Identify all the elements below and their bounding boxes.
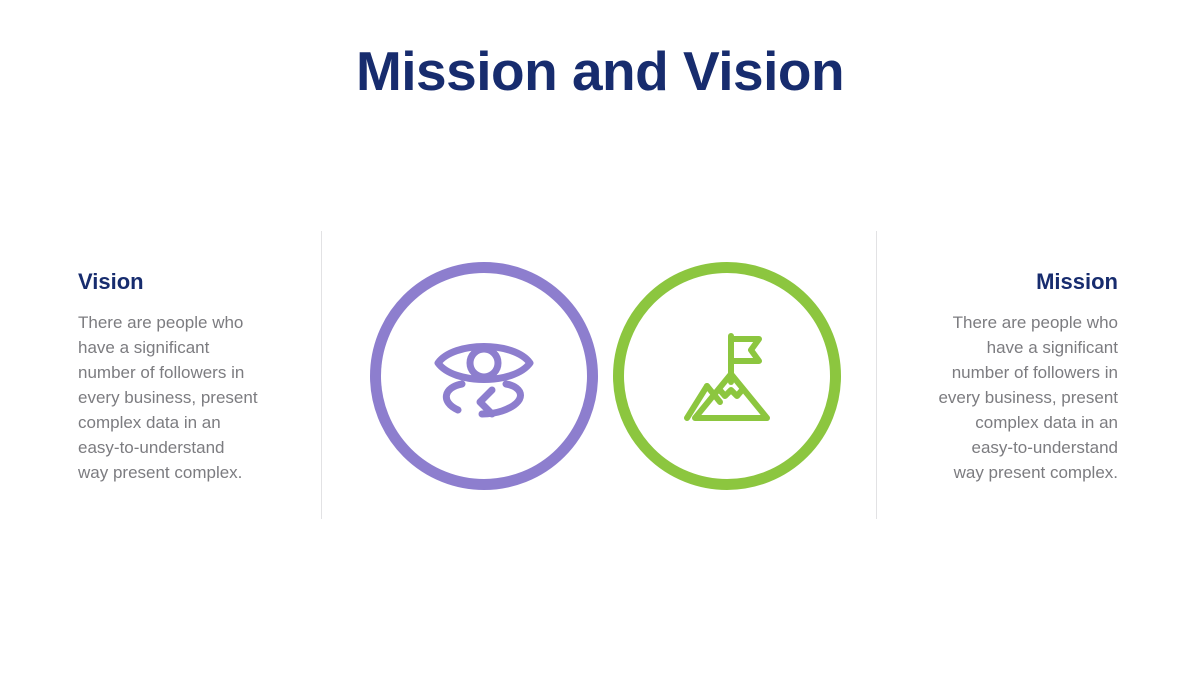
page-title: Mission and Vision [0, 44, 1200, 99]
vision-body-text: There are people whohave a significantnu… [78, 310, 294, 485]
vision-heading: Vision [78, 270, 294, 294]
mission-body-text: There are people whohave a significantnu… [902, 310, 1118, 485]
divider-left [321, 231, 322, 519]
mission-icon-circle [613, 262, 841, 490]
vision-icon-circle [370, 262, 598, 490]
vision-text-column: Vision There are people whohave a signif… [78, 270, 294, 485]
divider-right [876, 231, 877, 519]
mission-text-column: Mission There are people whohave a signi… [902, 270, 1118, 485]
mission-heading: Mission [902, 270, 1118, 294]
slide-canvas: Mission and Vision Vision There are peop… [0, 0, 1200, 675]
